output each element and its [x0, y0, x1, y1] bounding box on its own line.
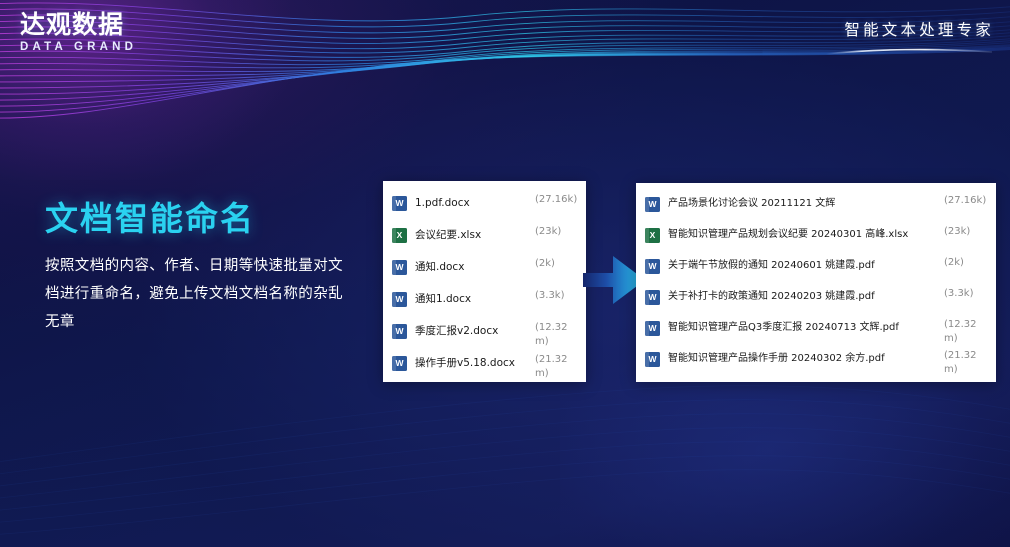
file-row[interactable]: W通知.docx(2k) — [383, 257, 586, 289]
file-name: 会议纪要.xlsx — [415, 225, 533, 245]
file-row[interactable]: W季度汇报v2.docx(12.32m) — [383, 321, 586, 353]
file-size: (12.32m) — [533, 321, 578, 349]
brand-logo: 达观数据 DATA GRAND — [20, 12, 137, 54]
file-row[interactable]: X智能知识管理产品规划会议纪要 20240301 高峰.xlsx(23k) — [636, 225, 996, 256]
file-size: (3.3k) — [942, 287, 988, 301]
tagline-underline-decoration — [824, 47, 994, 57]
page-title: 文档智能命名 — [45, 192, 255, 240]
tagline-block: 智能文本处理专家 — [824, 18, 994, 62]
word-file-icon: W — [645, 321, 660, 336]
file-row[interactable]: W1.pdf.docx(27.16k) — [383, 193, 586, 225]
file-row[interactable]: W产品场景化讨论会议 20211121 文辉(27.16k) — [636, 194, 996, 225]
file-name: 通知1.docx — [415, 289, 533, 309]
file-name: 1.pdf.docx — [415, 193, 533, 213]
word-file-icon: W — [645, 197, 660, 212]
excel-file-icon: X — [392, 228, 407, 243]
file-name: 关于补打卡的政策通知 20240203 姚建霞.pdf — [668, 287, 942, 307]
file-size: (21.32m) — [942, 349, 988, 377]
word-file-icon: W — [392, 260, 407, 275]
file-name: 产品场景化讨论会议 20211121 文辉 — [668, 194, 942, 214]
file-size: (12.32m) — [942, 318, 988, 346]
file-row[interactable]: W通知1.docx(3.3k) — [383, 289, 586, 321]
tagline-text: 智能文本处理专家 — [824, 18, 994, 40]
file-size: (27.16k) — [942, 194, 988, 208]
file-row[interactable]: W智能知识管理产品Q3季度汇报 20240713 文辉.pdf(12.32m) — [636, 318, 996, 349]
file-name: 操作手册v5.18.docx — [415, 353, 533, 373]
file-name: 关于端午节放假的通知 20240601 姚建霞.pdf — [668, 256, 942, 276]
file-list-after: W产品场景化讨论会议 20211121 文辉(27.16k)X智能知识管理产品规… — [636, 183, 996, 382]
word-file-icon: W — [392, 196, 407, 211]
file-name: 智能知识管理产品操作手册 20240302 余方.pdf — [668, 349, 942, 369]
file-row[interactable]: W关于补打卡的政策通知 20240203 姚建霞.pdf(3.3k) — [636, 287, 996, 318]
excel-file-icon: X — [645, 228, 660, 243]
word-file-icon: W — [392, 324, 407, 339]
wave-lines-bottom-decoration — [0, 367, 1010, 547]
file-size: (2k) — [533, 257, 578, 271]
file-size: (2k) — [942, 256, 988, 270]
word-file-icon: W — [392, 356, 407, 371]
file-size: (27.16k) — [533, 193, 578, 207]
file-row[interactable]: W智能知识管理产品操作手册 20240302 余方.pdf(21.32m) — [636, 349, 996, 380]
file-size: (23k) — [942, 225, 988, 239]
brand-logo-cn: 达观数据 — [20, 12, 137, 37]
file-list-before: W1.pdf.docx(27.16k)X会议纪要.xlsx(23k)W通知.do… — [383, 181, 586, 382]
file-size: (21.32m) — [533, 353, 578, 381]
file-size: (23k) — [533, 225, 578, 239]
brand-logo-en: DATA GRAND — [20, 42, 137, 54]
page-description: 按照文档的内容、作者、日期等快速批量对文档进行重命名，避免上传文档文档名称的杂乱… — [45, 252, 357, 336]
file-name: 季度汇报v2.docx — [415, 321, 533, 341]
file-name: 通知.docx — [415, 257, 533, 277]
file-row[interactable]: W操作手册v5.18.docx(21.32m) — [383, 353, 586, 385]
file-name: 智能知识管理产品Q3季度汇报 20240713 文辉.pdf — [668, 318, 942, 338]
word-file-icon: W — [645, 352, 660, 367]
file-name: 智能知识管理产品规划会议纪要 20240301 高峰.xlsx — [668, 225, 942, 245]
file-row[interactable]: X会议纪要.xlsx(23k) — [383, 225, 586, 257]
word-file-icon: W — [392, 292, 407, 307]
file-row[interactable]: W关于端午节放假的通知 20240601 姚建霞.pdf(2k) — [636, 256, 996, 287]
file-size: (3.3k) — [533, 289, 578, 303]
word-file-icon: W — [645, 259, 660, 274]
word-file-icon: W — [645, 290, 660, 305]
slide-canvas: 达观数据 DATA GRAND 智能文本处理专家 文档智能命名 按照文档的内容、… — [0, 0, 1010, 547]
